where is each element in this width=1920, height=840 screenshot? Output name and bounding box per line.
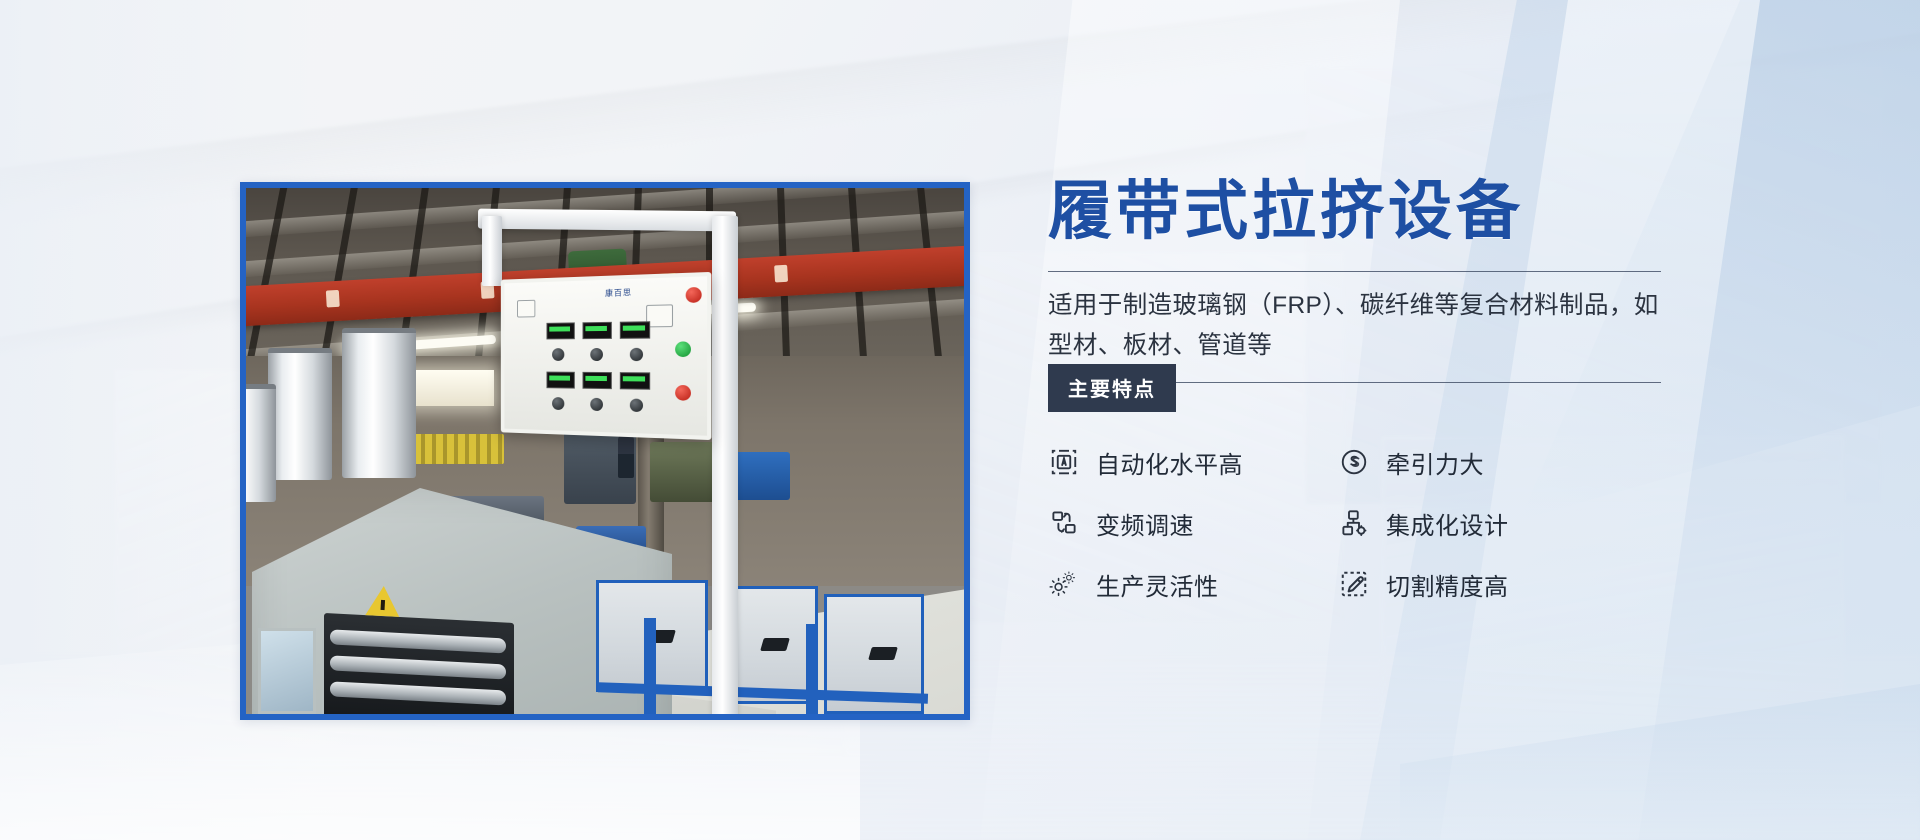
feature-label: 集成化设计 — [1386, 506, 1509, 541]
page-title: 履带式拉挤设备 — [1048, 178, 1668, 245]
automation-square-a-icon — [1048, 446, 1080, 478]
integrated-design-nodes-icon — [1338, 507, 1370, 539]
feature-item-automation: 自动化水平高 — [1048, 445, 1338, 480]
photo-gantry-column — [712, 216, 738, 714]
photo-hopper — [342, 328, 416, 478]
feature-item-production-flexibility: 生产灵活性 — [1048, 567, 1338, 602]
feature-label: 变频调速 — [1096, 506, 1194, 541]
divider-top — [1048, 271, 1661, 272]
feature-item-traction: 牵引力大 — [1338, 445, 1628, 480]
photo-hopper — [268, 348, 332, 480]
feature-label: 牵引力大 — [1386, 445, 1484, 480]
banner-content: 履带式拉挤设备 适用于制造玻璃钢（FRP）、碳纤维等复合材料制品，如型材、板材、… — [1048, 178, 1668, 602]
feature-item-cutting-precision: 切割精度高 — [1338, 567, 1628, 602]
product-description: 适用于制造玻璃钢（FRP）、碳纤维等复合材料制品，如型材、板材、管道等 — [1048, 286, 1663, 365]
traction-waves-circle-icon — [1338, 446, 1370, 478]
photo-control-panel: 康百思 — [501, 272, 712, 440]
factory-production-line-photo: 康百思 — [246, 188, 964, 714]
frequency-speed-nodes-icon — [1048, 507, 1080, 539]
status-badge: 主要特点 — [1048, 364, 1176, 412]
feature-item-integrated-design: 集成化设计 — [1338, 506, 1628, 541]
cutting-precision-pen-icon — [1338, 568, 1370, 600]
control-panel-brand: 康百思 — [605, 287, 632, 299]
feature-item-frequency-speed: 变频调速 — [1048, 506, 1338, 541]
feature-label: 生产灵活性 — [1096, 567, 1219, 602]
photo-hopper — [246, 384, 276, 502]
feature-list: 自动化水平高 牵引力大 — [1048, 445, 1668, 602]
feature-label: 自动化水平高 — [1096, 445, 1243, 480]
product-photo-card: 康百思 — [240, 182, 970, 720]
photo-gantry-crossbeam — [478, 209, 736, 232]
photo-warning-triangle — [365, 585, 401, 617]
feature-label: 切割精度高 — [1386, 567, 1509, 602]
product-banner: 康百思 履带式拉挤设备 — [0, 0, 1920, 840]
gears-flexibility-icon — [1048, 568, 1080, 600]
photo-press-opening — [324, 613, 514, 714]
